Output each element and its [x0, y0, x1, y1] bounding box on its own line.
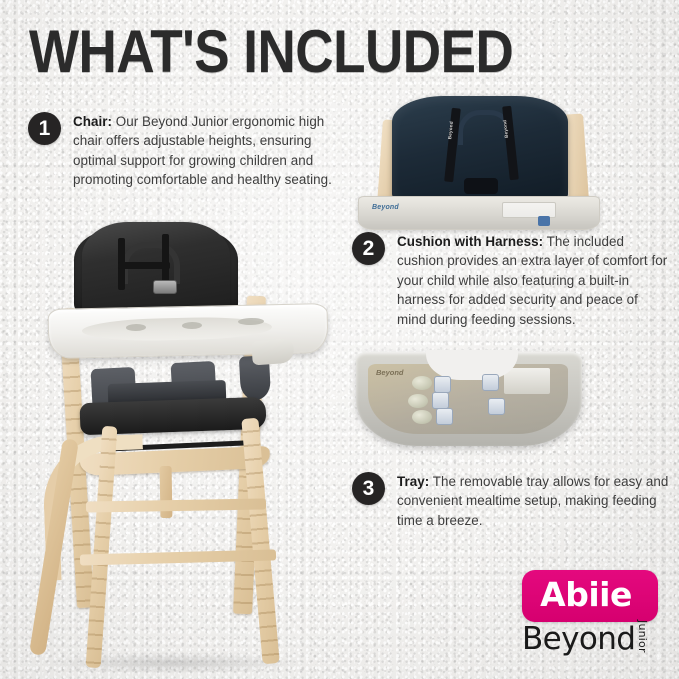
tray-reflection-window [504, 368, 550, 394]
logo-product-line: Beyond [522, 624, 635, 655]
feature-badge-3: 3 [352, 472, 385, 505]
feature-text-3: Tray: The removable tray allows for easy… [397, 472, 669, 530]
feature-text-1: Chair: Our Beyond Junior ergonomic high … [73, 112, 348, 190]
page-title: WHAT'S INCLUDED [29, 22, 513, 82]
chair-harness-strap-right [162, 234, 169, 284]
product-photo-tray: Beyond [356, 348, 586, 466]
logo-registered-mark: ® [657, 655, 661, 661]
feature-title-3: Tray: [397, 474, 429, 489]
chair-harness-strap-cross [118, 262, 170, 269]
feature-badge-2: 2 [352, 232, 385, 265]
tray-overlay-icon-4 [482, 374, 499, 391]
tray-brand-label: Beyond [376, 368, 404, 377]
logo-product-suffix: Junior [636, 620, 649, 653]
product-photo-high-chair [22, 200, 337, 678]
feature-title-2: Cushion with Harness: [397, 234, 543, 249]
chair-harness-buckle [153, 280, 177, 294]
feature-body-1: Our Beyond Junior ergonomic high chair o… [73, 114, 332, 187]
tray-overlay-icon-5 [488, 398, 505, 415]
infographic-canvas: WHAT'S INCLUDED [0, 0, 679, 679]
brand-logo: Abiie ® Beyond Junior [518, 570, 668, 670]
cushion-strap-label-right: Beyond [502, 120, 509, 138]
chair-tray-side-arm [251, 339, 295, 366]
cushion-tray-badge [538, 216, 550, 226]
tray-overlay-icon-1 [434, 376, 451, 393]
logo-brand-text: Abiie [518, 570, 654, 622]
feature-body-3: The removable tray allows for easy and c… [397, 474, 668, 528]
product-photo-cushion-harness: Beyond Beyond Beyond [352, 92, 658, 228]
feature-badge-1: 1 [28, 112, 61, 145]
feature-title-1: Chair: [73, 114, 112, 129]
cushion-strap-label-left: Beyond [447, 121, 454, 139]
tray-food-item-3 [412, 410, 432, 424]
tray-food-item-1 [412, 376, 432, 390]
tray-food-item-2 [408, 394, 428, 408]
cushion-photo-tray [358, 196, 600, 230]
feature-text-2: Cushion with Harness: The included cushi… [397, 232, 669, 329]
tray-overlay-icon-2 [432, 392, 449, 409]
tray-overlay-icon-3 [436, 408, 453, 425]
cushion-tray-brand-label: Beyond [372, 204, 399, 211]
cushion-crotch-strap [464, 178, 498, 194]
